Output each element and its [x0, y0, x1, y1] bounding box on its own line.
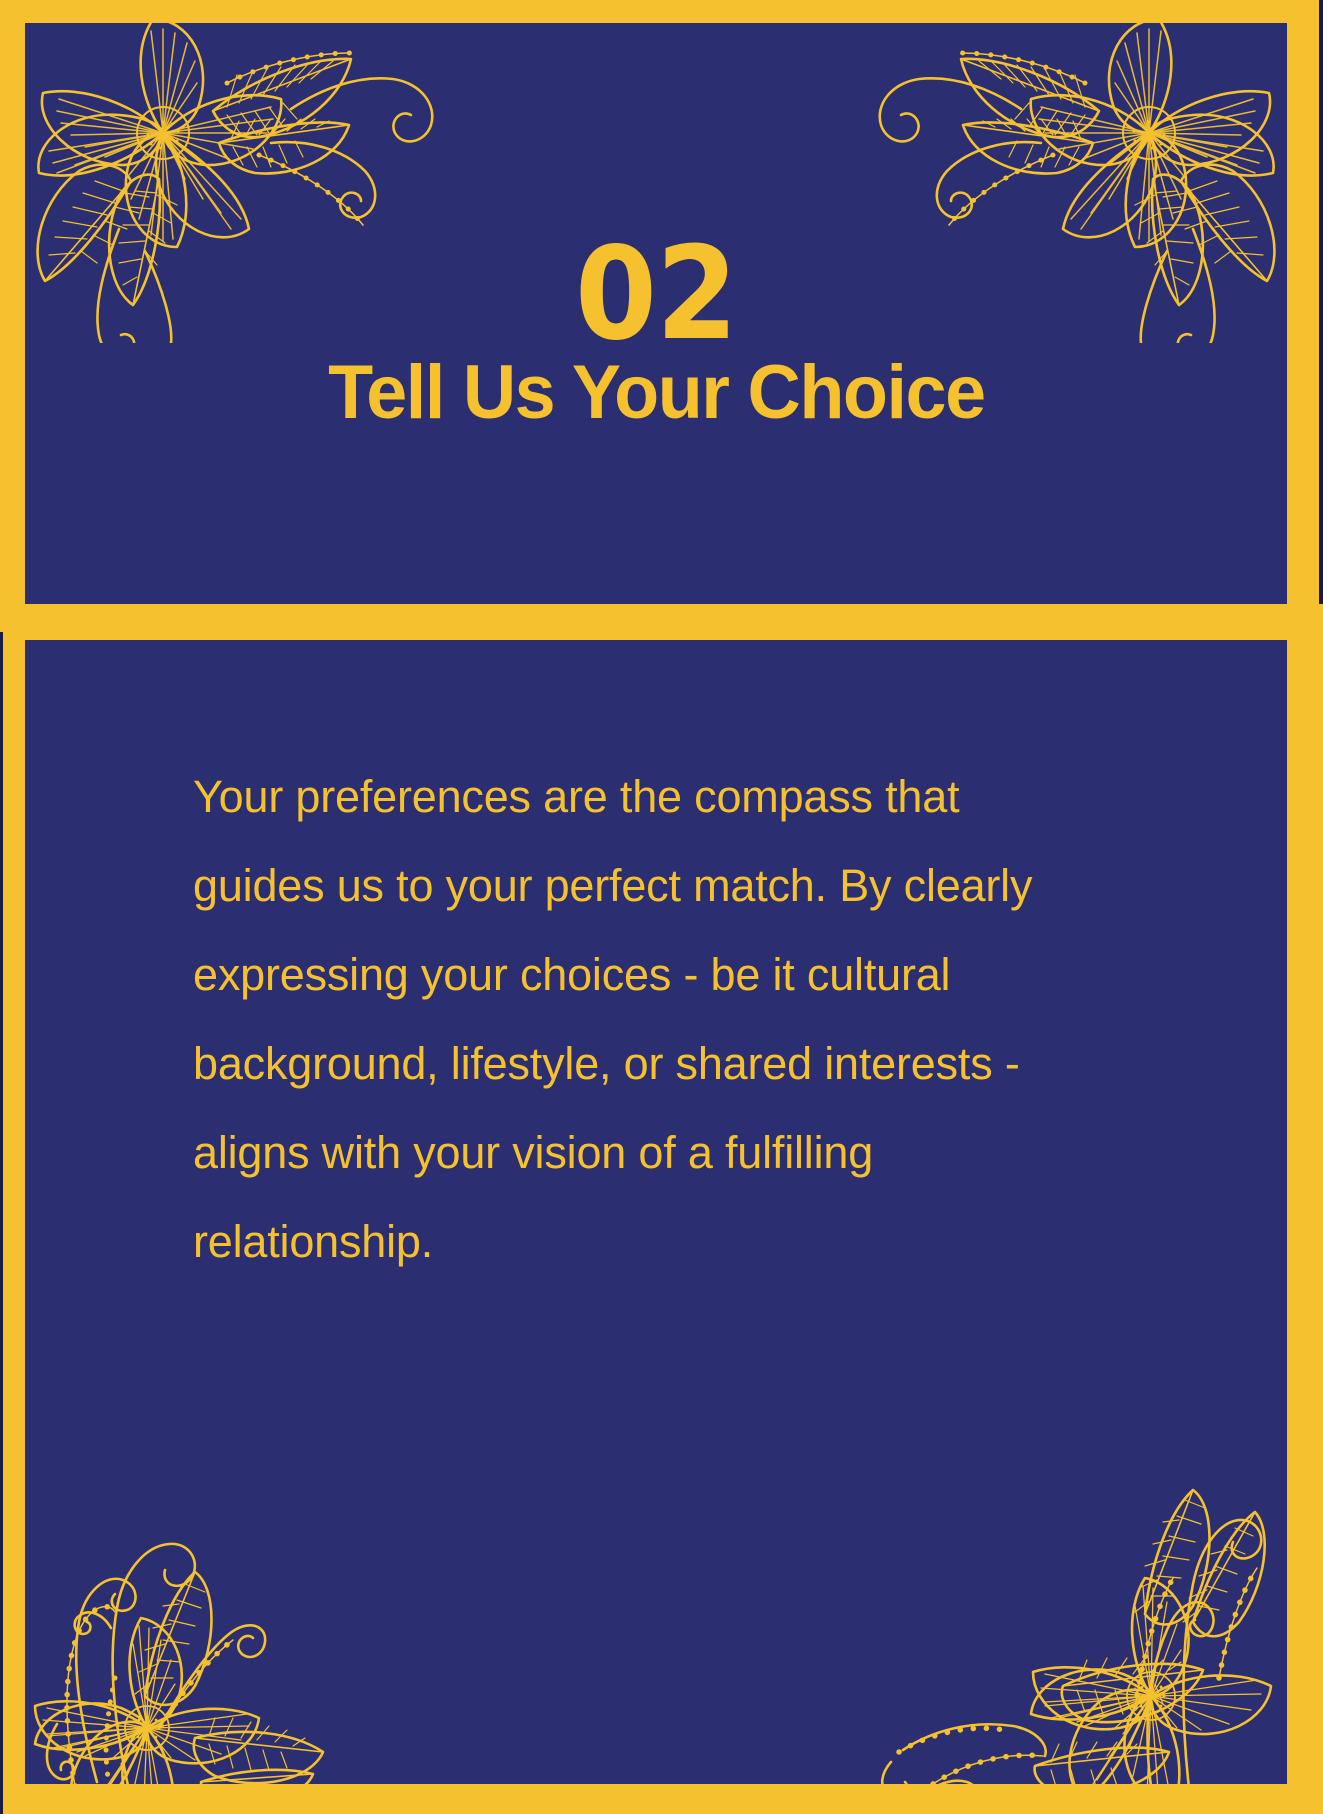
page-title: Tell Us Your Choice [328, 355, 984, 431]
left-edge-line [0, 632, 3, 1814]
body-panel: Your preferences are the compass that gu… [25, 640, 1287, 1784]
poster-canvas: 02 Tell Us Your Choice [0, 0, 1323, 1814]
header-panel: 02 Tell Us Your Choice [25, 23, 1287, 604]
body-paragraph: Your preferences are the compass that gu… [193, 752, 1073, 1287]
right-edge-line [1319, 0, 1323, 604]
henna-floral-corner-icon [863, 1378, 1287, 1784]
henna-vine-corner-icon [25, 1378, 419, 1784]
step-number: 02 [575, 236, 737, 354]
